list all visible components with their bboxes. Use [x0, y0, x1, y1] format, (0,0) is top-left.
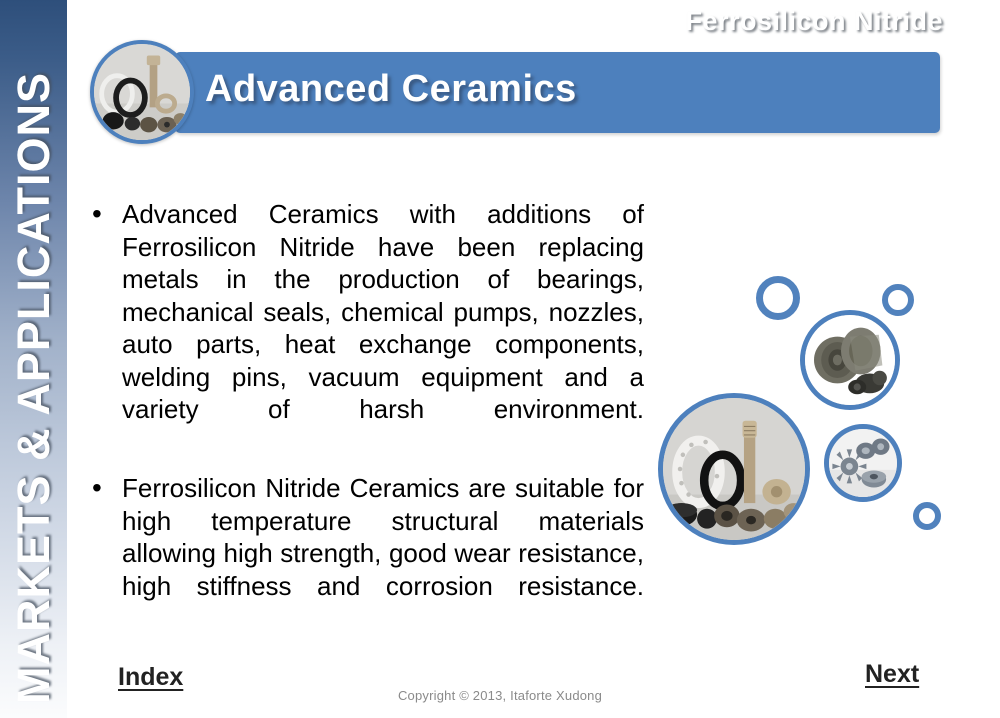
bullet-marker-icon: •	[88, 472, 122, 635]
product-family-header: Ferrosilicon Nitride	[685, 6, 943, 37]
title-badge-photo	[90, 40, 194, 144]
ceramic-components-photo-icon	[94, 44, 190, 140]
bullet-item: • Ferrosilicon Nitride Ceramics are suit…	[88, 472, 644, 635]
ceramic-parts-assortment-photo-icon	[663, 398, 805, 540]
decorative-ring-icon	[913, 502, 941, 530]
bullet-marker-icon: •	[88, 198, 122, 458]
dark-ceramic-rotor-parts-photo-icon	[805, 315, 895, 405]
copyright-notice: Copyright © 2013, Itaforte Xudong	[0, 688, 1000, 703]
sidebar-banner: MARKETS & APPLICATIONS	[0, 0, 67, 718]
next-link[interactable]: Next	[865, 660, 919, 689]
bullet-text: Advanced Ceramics with additions of Ferr…	[122, 198, 644, 458]
page-title: Advanced Ceramics	[205, 68, 577, 111]
bullet-text: Ferrosilicon Nitride Ceramics are suitab…	[122, 472, 644, 635]
image-cluster	[650, 270, 950, 550]
cluster-photo-rotor-parts	[800, 310, 900, 410]
bullet-item: • Advanced Ceramics with additions of Fe…	[88, 198, 644, 458]
body-text-block: • Advanced Ceramics with additions of Fe…	[88, 198, 644, 649]
decorative-ring-icon	[882, 284, 914, 316]
silver-impeller-parts-photo-icon	[829, 429, 897, 497]
sidebar-title: MARKETS & APPLICATIONS	[0, 0, 67, 718]
cluster-photo-impeller-parts	[824, 424, 902, 502]
cluster-photo-ceramic-assortment	[658, 393, 810, 545]
slide-canvas: MARKETS & APPLICATIONS Ferrosilicon Nitr…	[0, 0, 1000, 718]
decorative-ring-icon	[756, 276, 800, 320]
